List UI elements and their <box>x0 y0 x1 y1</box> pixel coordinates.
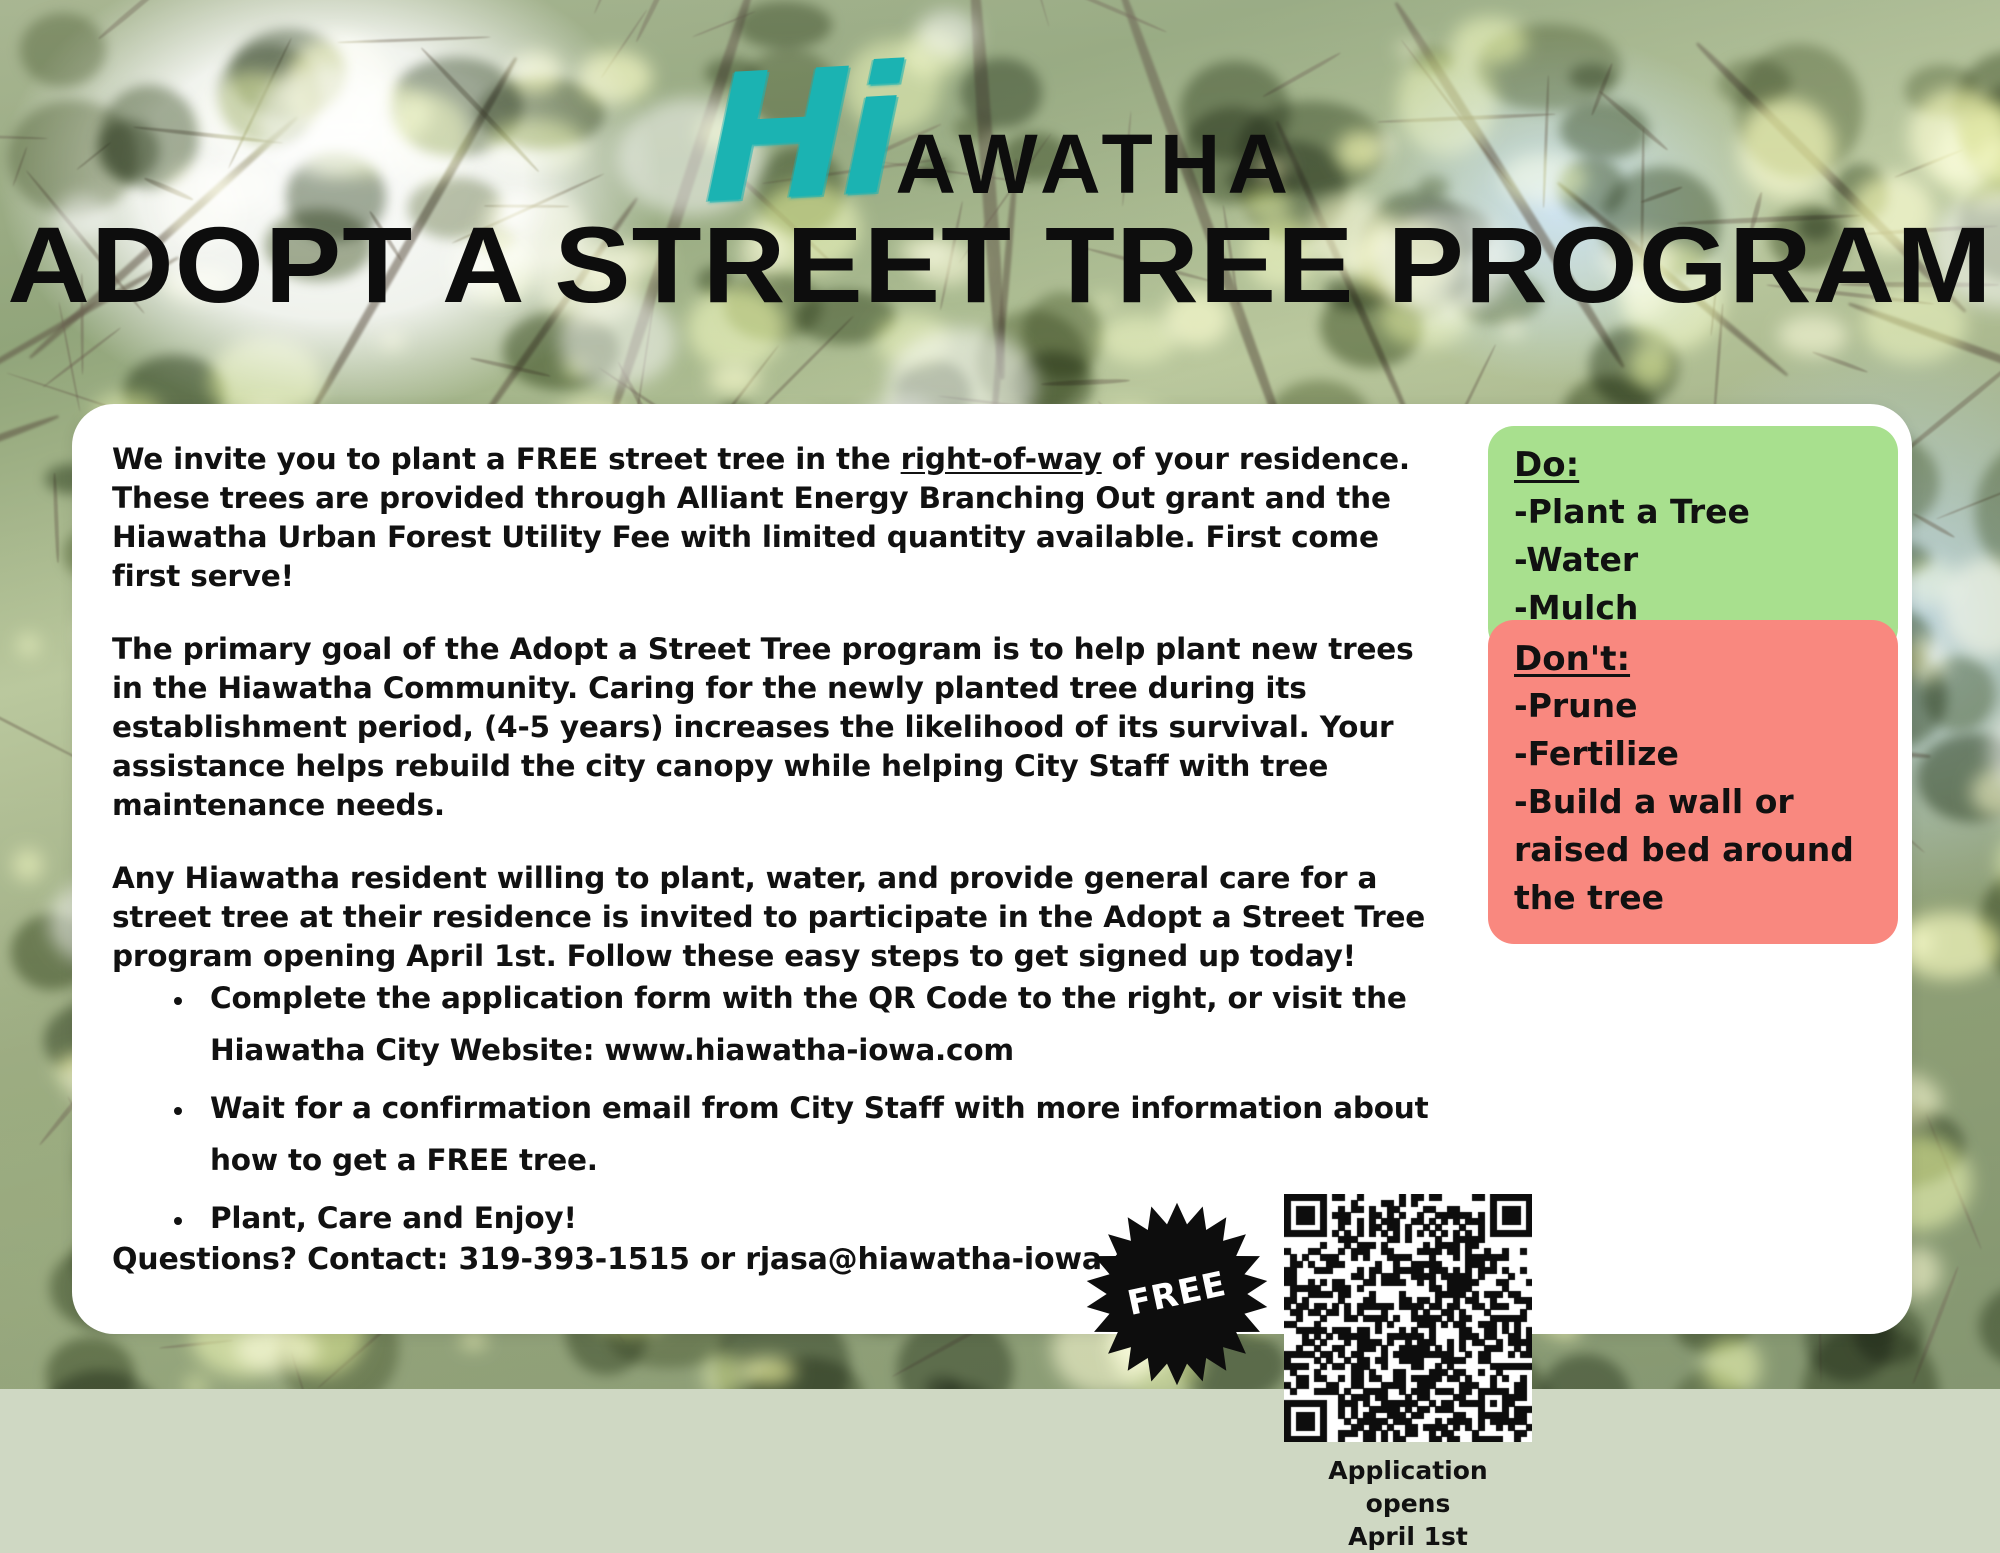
qr-code-block: Application opens April 1st <box>1284 1194 1532 1553</box>
paragraph-2: The primary goal of the Adopt a Street T… <box>112 630 1452 825</box>
qr-caption: Application opens April 1st <box>1284 1454 1532 1553</box>
do-box-item: -Water <box>1514 536 1872 584</box>
paragraph-1: We invite you to plant a FREE street tre… <box>112 440 1452 596</box>
free-starburst-badge: FREE <box>1082 1199 1272 1389</box>
list-item: Complete the application form with the Q… <box>196 972 1506 1076</box>
paragraph-1-part-a: We invite you to plant a FREE street tre… <box>112 442 901 476</box>
dont-box-title: Don't: <box>1514 636 1872 682</box>
page-title: ADOPT A STREET TREE PROGRAM <box>0 210 2000 320</box>
qr-caption-line-2: April 1st <box>1284 1520 1532 1553</box>
do-box-item: -Plant a Tree <box>1514 488 1872 536</box>
poster-header: HiAWATHA ADOPT A STREET TREE PROGRAM <box>0 0 2000 420</box>
hi-logo-mark: Hi <box>704 57 893 217</box>
do-box-title: Do: <box>1514 442 1872 488</box>
hiawatha-wordmark: AWATHA <box>895 116 1295 212</box>
list-item: Wait for a confirmation email from City … <box>196 1082 1506 1186</box>
dont-box-item: -Build a wall or raised bed around the t… <box>1514 778 1872 922</box>
intro-copy: We invite you to plant a FREE street tre… <box>112 440 1452 1010</box>
right-of-way-underlined: right-of-way <box>901 442 1102 476</box>
paragraph-3: Any Hiawatha resident willing to plant, … <box>112 859 1452 976</box>
content-card: We invite you to plant a FREE street tre… <box>72 404 1912 1334</box>
dont-box-item: -Prune <box>1514 682 1872 730</box>
free-badge-label: FREE <box>1064 1181 1289 1406</box>
dont-box: Don't: -Prune -Fertilize -Build a wall o… <box>1488 620 1898 944</box>
dont-box-item: -Fertilize <box>1514 730 1872 778</box>
qr-caption-line-1: Application opens <box>1284 1454 1532 1520</box>
qr-code-image[interactable] <box>1284 1194 1532 1442</box>
